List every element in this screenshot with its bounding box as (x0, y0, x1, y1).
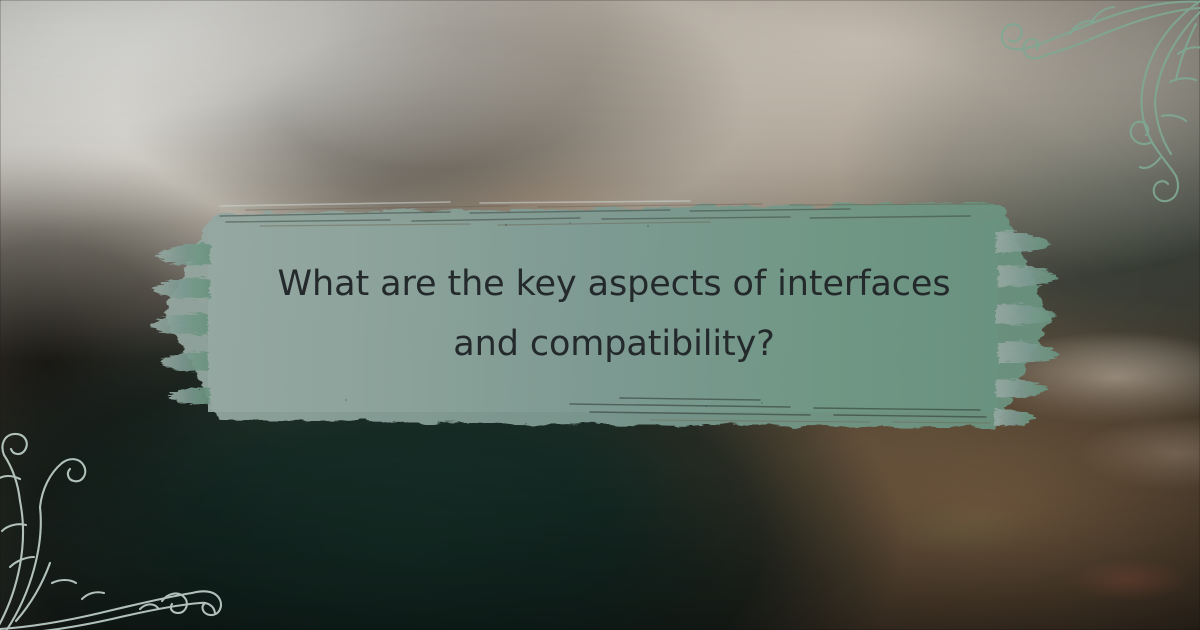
question-card-canvas: What are the key aspects of interfaces a… (0, 0, 1200, 630)
paint-stroke-banner (150, 192, 1060, 437)
paint-stroke-shape (150, 192, 1060, 437)
